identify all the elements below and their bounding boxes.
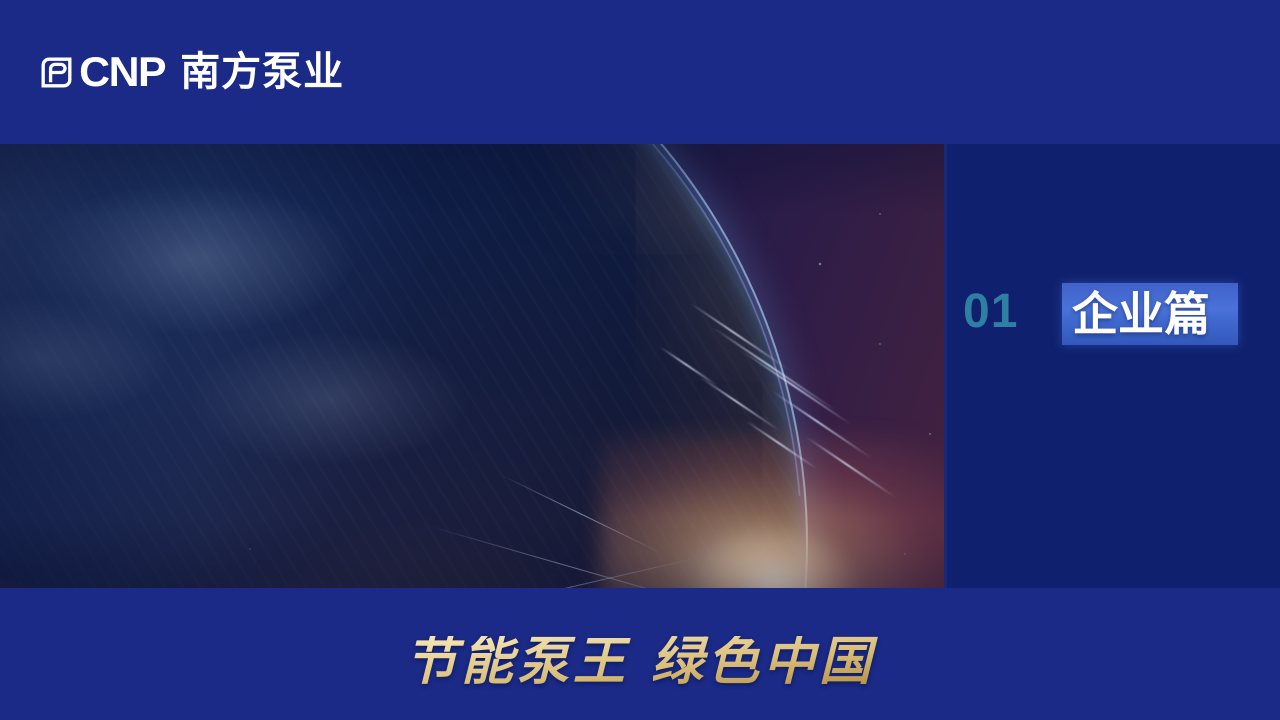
section-number: 01 <box>963 288 1018 336</box>
section-panel <box>947 144 1280 588</box>
panel-divider <box>944 144 947 588</box>
section-title: 企业篇 <box>1072 289 1242 339</box>
brand-chinese-text: 南方泵业 <box>180 52 344 92</box>
brand-logo: CNP 南方泵业 <box>38 48 344 96</box>
earth-from-space-photo <box>0 144 944 588</box>
brand-latin-text: CNP <box>79 51 165 93</box>
footer-tagline: 节能泵王 绿色中国 <box>0 636 1280 688</box>
slide-header: CNP 南方泵业 <box>0 0 1280 144</box>
presentation-slide: CNP 南方泵业 <box>0 0 1280 720</box>
light-streaks <box>0 144 944 588</box>
cnp-logo-mark-icon <box>38 54 75 91</box>
